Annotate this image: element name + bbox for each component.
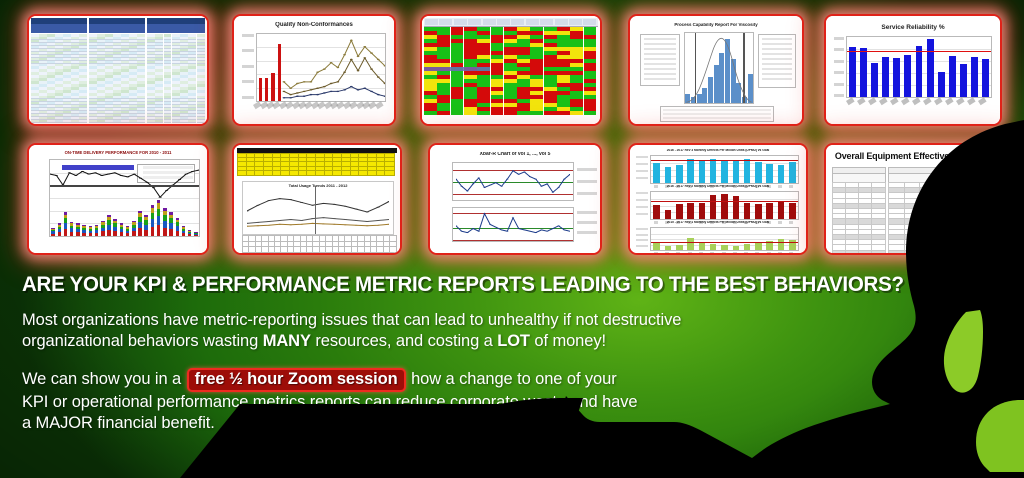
dpmu-rev1-title: 2015 - 2017 Rev 1 Monthly Defects Per Mi… bbox=[630, 221, 806, 225]
marketing-banner: Quality Non-Conformances Process Capabil… bbox=[0, 0, 1024, 478]
para2-text-1: We can show you in a bbox=[22, 370, 186, 388]
oee-body: Overall Equipment Effectiveness (OEE) bbox=[826, 145, 1004, 253]
quality-chart-body: Quality Non-Conformances bbox=[234, 16, 394, 124]
oee-title: Overall Equipment Effectiveness (OEE) bbox=[826, 151, 1004, 161]
kpi-data-table-body bbox=[29, 16, 207, 124]
page-title: ARE YOUR KPI & PERFORMANCE METRIC REPORT… bbox=[22, 274, 904, 296]
xbar-r-body: Xbar-R Chart of vol 1, ..., vol 5 bbox=[430, 145, 600, 253]
free-zoom-session-badge[interactable]: free ½ hour Zoom session bbox=[187, 368, 406, 392]
para1-emphasis-many: MANY bbox=[263, 332, 311, 350]
capability-body: Process Capability Report For Viscosity bbox=[630, 16, 802, 124]
para1-emphasis-lot: LOT bbox=[497, 332, 530, 350]
cost-usage-body: Total Usage Trends 2011 - 2012 bbox=[234, 145, 400, 253]
dpmu-body: 2016 - 2017 Rev 3 Monthly Defects Per Mi… bbox=[630, 145, 806, 253]
thumbnail-kpi-data-table[interactable] bbox=[27, 14, 209, 126]
para1-text-2: resources, and costing a bbox=[311, 332, 497, 350]
thumbnail-service-reliability[interactable]: Service Reliability % bbox=[824, 14, 1002, 126]
thumbnail-on-time-delivery-performance[interactable]: ON-TIME DELIVERY PERFORMANCE FOR 2010 - … bbox=[27, 143, 209, 255]
service-reliability-body: Service Reliability % bbox=[826, 16, 1000, 124]
thumbnail-dpmu-charts[interactable]: 2016 - 2017 Rev 3 Monthly Defects Per Mi… bbox=[628, 143, 808, 255]
quality-chart-title: Quality Non-Conformances bbox=[234, 22, 394, 29]
thumbnail-rag-status-heatmap[interactable] bbox=[420, 14, 602, 126]
service-reliability-title: Service Reliability % bbox=[826, 24, 1000, 31]
dpmu-rev2-title: 2016 - 2017 Rev 2 Monthly Defects Per Mi… bbox=[630, 185, 806, 189]
heatmap-body bbox=[422, 16, 600, 124]
body-paragraph-2: We can show you in a free ½ hour Zoom se… bbox=[22, 368, 642, 434]
para1-text-3: of money! bbox=[530, 332, 606, 350]
on-time-delivery-title: ON-TIME DELIVERY PERFORMANCE FOR 2010 - … bbox=[29, 151, 207, 156]
thumbnail-cost-usage-trends[interactable]: Total Usage Trends 2011 - 2012 bbox=[232, 143, 402, 255]
capability-title: Process Capability Report For Viscosity bbox=[630, 23, 802, 28]
body-paragraph-1: Most organizations have metric-reporting… bbox=[22, 310, 782, 352]
on-time-delivery-body: ON-TIME DELIVERY PERFORMANCE FOR 2010 - … bbox=[29, 145, 207, 253]
xbar-r-title: Xbar-R Chart of vol 1, ..., vol 5 bbox=[430, 152, 600, 158]
dpmu-rev3-title: 2016 - 2017 Rev 3 Monthly Defects Per Mi… bbox=[630, 149, 806, 153]
thumbnail-xbar-r-chart[interactable]: Xbar-R Chart of vol 1, ..., vol 5 bbox=[428, 143, 602, 255]
thumbnail-process-capability-report[interactable]: Process Capability Report For Viscosity bbox=[628, 14, 804, 126]
thumbnail-quality-non-conformances[interactable]: Quality Non-Conformances bbox=[232, 14, 396, 126]
thumbnail-overall-equipment-effectiveness[interactable]: Overall Equipment Effectiveness (OEE) bbox=[824, 143, 1006, 255]
